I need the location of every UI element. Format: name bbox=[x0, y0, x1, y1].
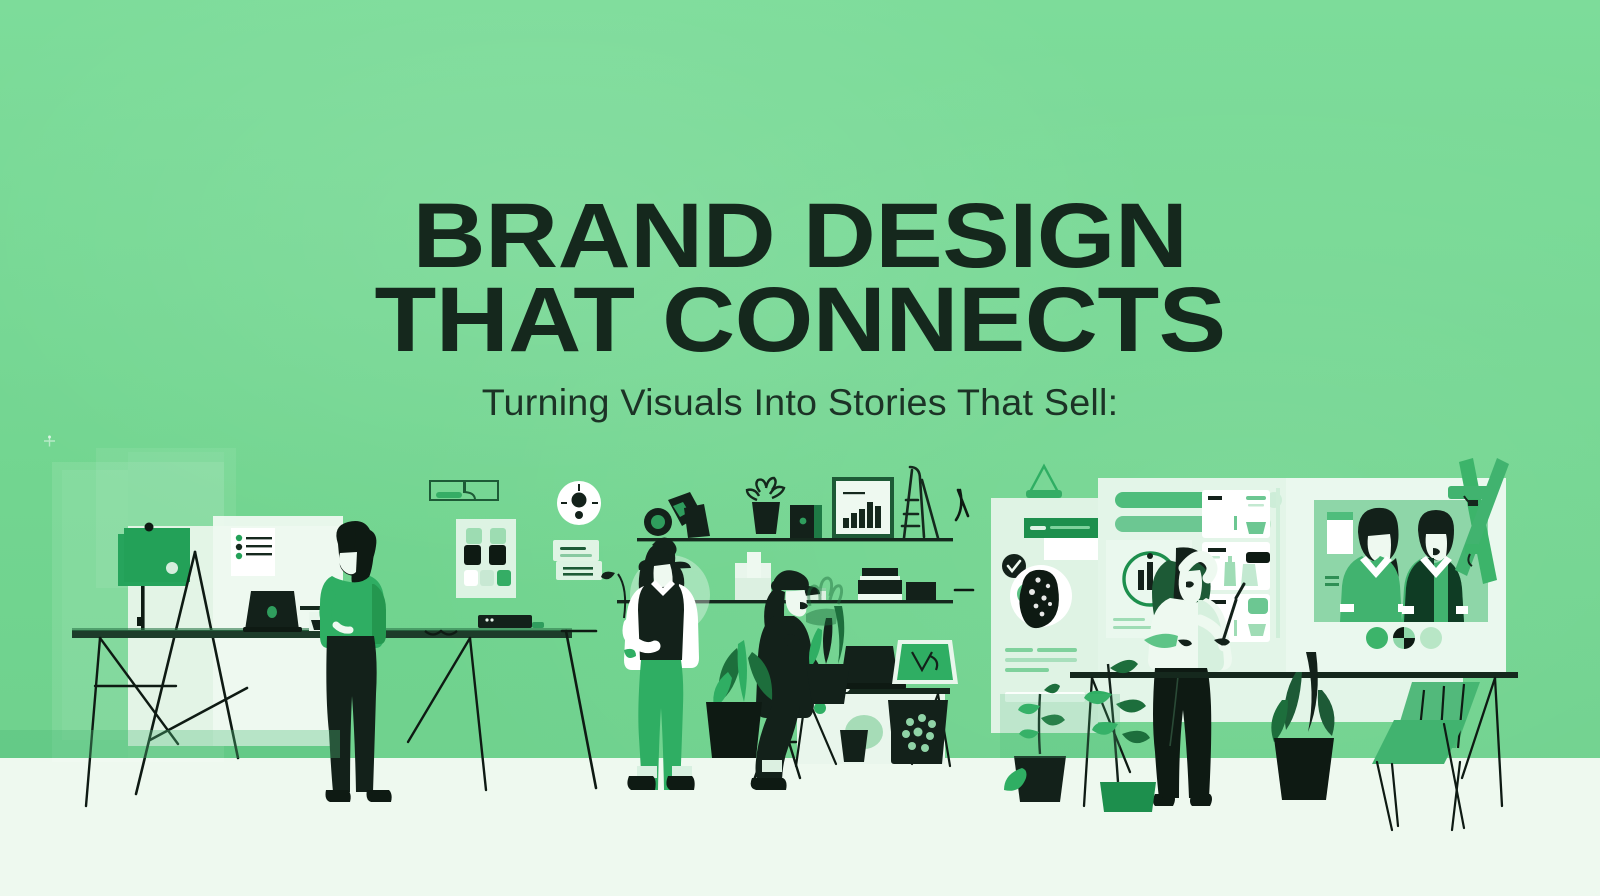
printer-and-books bbox=[858, 568, 936, 600]
wall-ui-card-message bbox=[553, 540, 599, 561]
hero-text-block: BRAND DESIGN THAT CONNECTS Turning Visua… bbox=[0, 176, 1600, 424]
hero-banner: BRAND DESIGN THAT CONNECTS Turning Visua… bbox=[0, 0, 1600, 896]
page-title: BRAND DESIGN THAT CONNECTS bbox=[0, 197, 1600, 359]
wall-moodboard-swatches bbox=[456, 519, 516, 598]
framed-bar-chart-poster bbox=[832, 477, 894, 538]
waste-bin bbox=[840, 730, 868, 762]
title-line-2: THAT CONNECTS bbox=[0, 281, 1600, 360]
desk-lamp-left bbox=[562, 631, 596, 788]
easel-left-arrow bbox=[955, 490, 973, 590]
color-swatch-dots bbox=[1366, 627, 1442, 649]
shelf-speaker bbox=[790, 505, 822, 538]
wall-note-card bbox=[231, 528, 275, 576]
camera-gear bbox=[644, 492, 710, 538]
title-line-1: BRAND DESIGN bbox=[0, 197, 1600, 276]
wall-accent-band-right bbox=[1000, 694, 1120, 758]
brand-board-left-card bbox=[991, 466, 1098, 733]
sparkle-icon bbox=[44, 436, 55, 447]
desk-tray bbox=[478, 615, 544, 628]
step-ladder bbox=[902, 467, 938, 538]
studio-illustration bbox=[0, 0, 1600, 896]
tablet-screen bbox=[892, 640, 958, 684]
wall-lens-icon bbox=[557, 481, 601, 525]
person-standing-white-blazer bbox=[601, 537, 710, 790]
wall-ui-card-text bbox=[556, 561, 602, 580]
wall-accent-band bbox=[0, 730, 340, 758]
patterned-bag bbox=[888, 700, 948, 764]
left-laptop bbox=[243, 591, 302, 632]
product-card-1 bbox=[1202, 490, 1270, 538]
wall-ui-card-video bbox=[430, 481, 498, 500]
page-subtitle: Turning Visuals Into Stories That Sell: bbox=[0, 382, 1600, 424]
shelf-upper bbox=[637, 467, 953, 541]
shelf-plant bbox=[747, 478, 784, 534]
